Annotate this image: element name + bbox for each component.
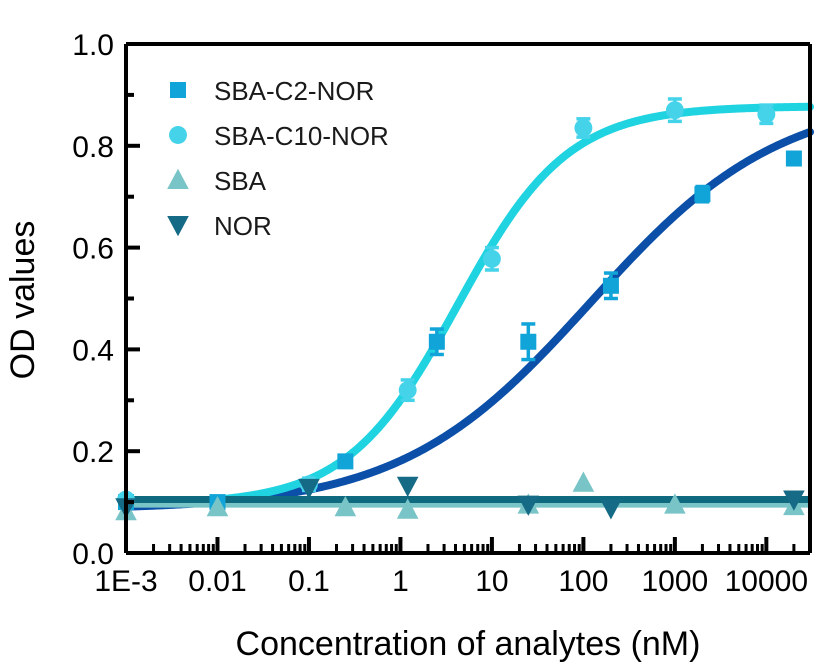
x-tick-label: 0.01 <box>188 565 246 598</box>
x-tick-label: 100 <box>558 565 608 598</box>
y-tick-label: 0.4 <box>72 334 114 367</box>
marker-circle <box>757 105 775 123</box>
legend-item-label: SBA-C2-NOR <box>214 76 374 106</box>
dose-response-chart: 1E-30.010.1110100100010000 0.00.20.40.60… <box>0 0 838 670</box>
y-axis-title: OD values <box>4 221 42 380</box>
marker-square <box>603 278 619 294</box>
x-axis-title: Concentration of analytes (nM) <box>236 625 701 663</box>
marker-circle <box>399 381 417 399</box>
x-tick-label: 0.1 <box>288 565 330 598</box>
legend-item-label: SBA <box>214 166 267 196</box>
marker-square <box>694 186 710 202</box>
legend-item-label: SBA-C10-NOR <box>214 121 389 151</box>
y-tick-label: 0.8 <box>72 131 114 164</box>
marker-circle <box>483 250 501 268</box>
x-tick-label: 10 <box>475 565 508 598</box>
y-tick-label: 0.2 <box>72 436 114 469</box>
marker-square <box>786 151 802 167</box>
y-tick-label: 1.0 <box>72 29 114 62</box>
marker-square <box>429 334 445 350</box>
y-tick-label: 0.6 <box>72 233 114 266</box>
marker-circle <box>666 101 684 119</box>
y-tick-label: 0.0 <box>72 538 114 571</box>
marker-circle <box>574 119 592 137</box>
marker-square <box>337 453 353 469</box>
x-tick-label: 1000 <box>641 565 708 598</box>
x-tick-label: 1 <box>392 565 409 598</box>
x-tick-label: 10000 <box>725 565 808 598</box>
chart-root: 1E-30.010.1110100100010000 0.00.20.40.60… <box>0 0 838 670</box>
marker-circle <box>169 126 187 144</box>
marker-square <box>170 82 186 98</box>
legend-item-label: NOR <box>214 211 272 241</box>
marker-square <box>520 334 536 350</box>
